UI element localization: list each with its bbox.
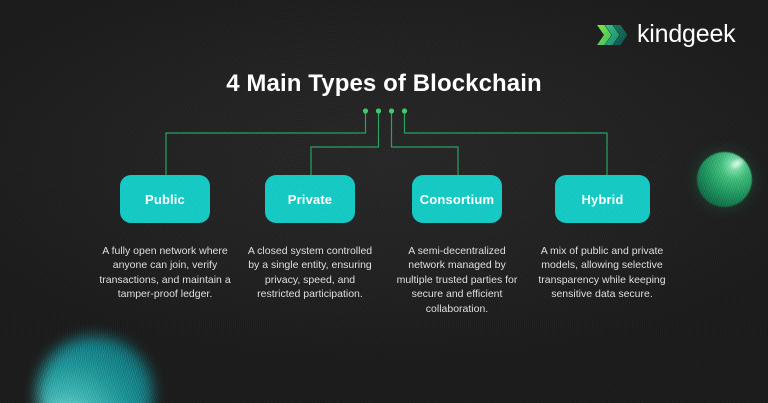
description-consortium: A semi-decentralized network managed by …	[390, 244, 524, 316]
connector-node-dot	[363, 108, 368, 113]
connector-node-dot	[389, 108, 394, 113]
description-private: A closed system controlled by a single e…	[243, 244, 377, 302]
card-label: Hybrid	[581, 192, 623, 207]
connector-line-private	[311, 112, 379, 176]
card-hybrid[interactable]: Hybrid	[555, 175, 650, 223]
connector-line-consortium	[392, 112, 459, 176]
card-private[interactable]: Private	[265, 175, 355, 223]
infographic-canvas: kindgeek 4 Main Types of Blockchain Publ…	[0, 0, 768, 403]
connector-node-dot	[376, 108, 381, 113]
connector-node-dot	[402, 108, 407, 113]
card-public[interactable]: Public	[120, 175, 210, 223]
connector-line-public	[166, 112, 366, 176]
card-label: Public	[145, 192, 185, 207]
connector-line-hybrid	[405, 112, 608, 176]
description-hybrid: A mix of public and private models, allo…	[535, 244, 669, 302]
card-consortium[interactable]: Consortium	[412, 175, 502, 223]
card-label: Private	[288, 192, 332, 207]
card-label: Consortium	[420, 192, 494, 207]
card-row: Public Private Consortium Hybrid	[0, 175, 768, 223]
description-public: A fully open network where anyone can jo…	[98, 244, 232, 302]
teal-sphere-decoration	[37, 336, 153, 403]
